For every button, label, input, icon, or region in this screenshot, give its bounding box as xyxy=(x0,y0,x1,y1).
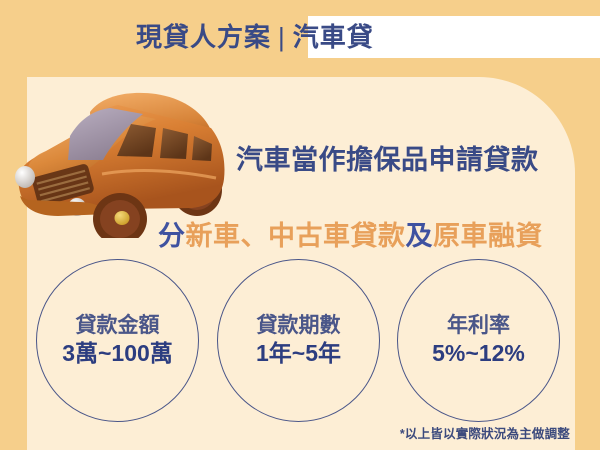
feature-circle-loan-term: 貸款期數 1年~5年 xyxy=(217,259,380,422)
feature-label: 貸款金額 xyxy=(76,314,160,338)
feature-label: 貸款期數 xyxy=(257,314,341,338)
feature-value: 3萬~100萬 xyxy=(62,340,173,368)
headline-secondary-part-1: 分 xyxy=(158,221,186,251)
feature-value: 1年~5年 xyxy=(256,340,341,368)
feature-label: 年利率 xyxy=(447,314,510,338)
disclaimer-footnote: *以上皆以實際狀況為主做調整 xyxy=(400,423,570,442)
title-separator: | xyxy=(271,22,293,52)
page-title: 現貸人方案|汽車貸 xyxy=(136,16,374,58)
category-label: 汽車貸 xyxy=(293,22,374,52)
headline-secondary-part-2: 新車、中古車貸款 xyxy=(186,221,406,251)
feature-circle-interest-rate: 年利率 5%~12% xyxy=(397,259,560,422)
headline-secondary: 分新車、中古車貸款及原車融資 xyxy=(158,214,543,253)
headline-secondary-part-3: 及 xyxy=(406,221,434,251)
loan-promo-banner: 現貸人方案|汽車貸 xyxy=(0,0,600,450)
feature-value: 5%~12% xyxy=(432,340,525,368)
program-label: 現貸人方案 xyxy=(136,22,271,52)
feature-circle-loan-amount: 貸款金額 3萬~100萬 xyxy=(36,259,199,422)
headline-secondary-part-4: 原車融資 xyxy=(433,221,543,251)
headline-primary: 汽車當作擔保品申請貸款 xyxy=(236,138,539,177)
banner-header: 現貸人方案|汽車貸 xyxy=(0,16,600,60)
